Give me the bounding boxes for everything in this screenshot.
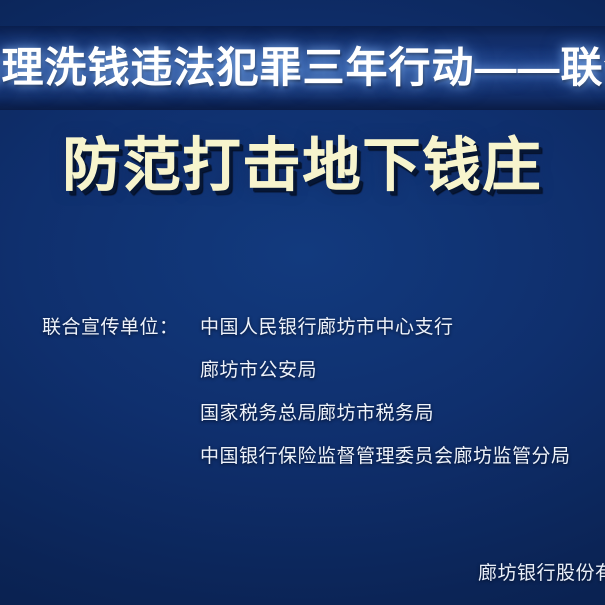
headline-text: 治理洗钱违法犯罪三年行动——联合 xyxy=(0,47,605,89)
headline-banner: 治理洗钱违法犯罪三年行动——联合 xyxy=(0,26,605,110)
credit-organization: 中国银行保险监督管理委员会廊坊监管分局 xyxy=(200,435,602,478)
credit-organization: 中国人民银行廊坊市中心支行 xyxy=(200,306,602,349)
credit-row: 廊坊市公安局 xyxy=(42,349,602,392)
credit-row: 中国银行保险监督管理委员会廊坊监管分局 xyxy=(42,435,602,478)
credit-organization: 国家税务总局廊坊市税务局 xyxy=(200,392,602,435)
credit-row: 国家税务总局廊坊市税务局 xyxy=(42,392,602,435)
credits-block: 联合宣传单位： 中国人民银行廊坊市中心支行 廊坊市公安局 国家税务总局廊坊市税务… xyxy=(42,306,602,478)
sponsor-text: 廊坊银行股份有限公司 xyxy=(478,560,605,588)
poster-canvas: 治理洗钱违法犯罪三年行动——联合 防范打击地下钱庄 联合宣传单位： 中国人民银行… xyxy=(0,0,605,605)
credit-row: 联合宣传单位： 中国人民银行廊坊市中心支行 xyxy=(42,306,602,349)
main-title: 防范打击地下钱庄 xyxy=(0,135,605,197)
credits-label: 联合宣传单位： xyxy=(42,306,200,349)
credit-organization: 廊坊市公安局 xyxy=(200,349,602,392)
